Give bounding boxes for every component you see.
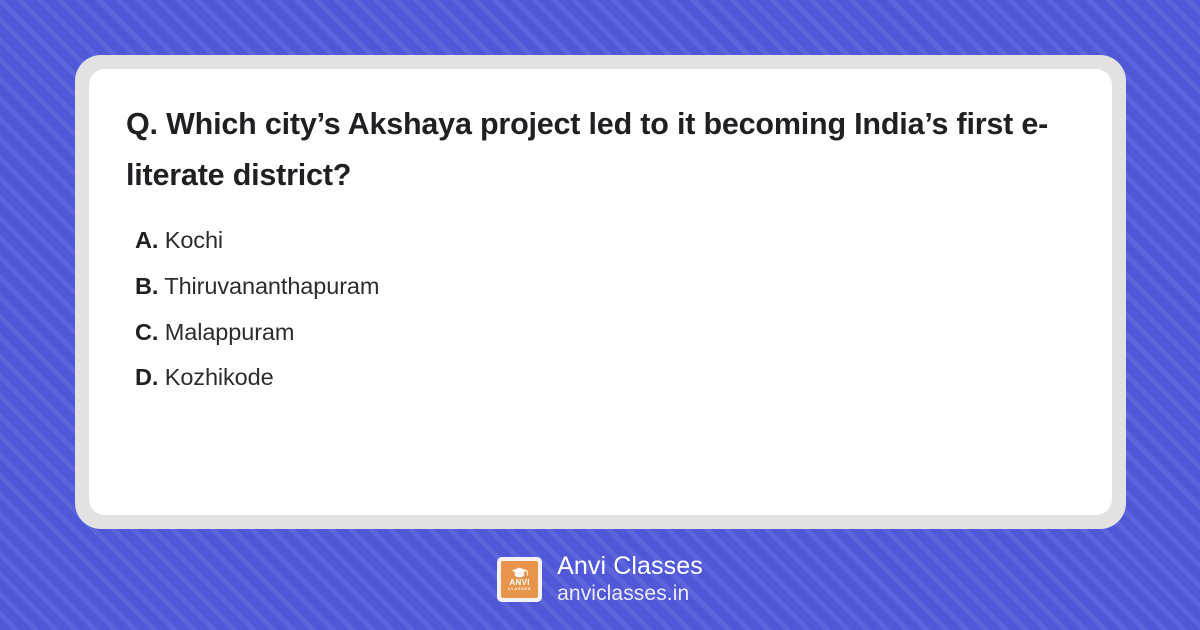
question-card: Q. Which city’s Akshaya project led to i… bbox=[75, 55, 1126, 529]
option-row-d[interactable]: D. Kozhikode bbox=[126, 355, 1075, 401]
brand-logo-sub: CLASSES bbox=[508, 588, 531, 592]
option-row-c[interactable]: C. Malappuram bbox=[126, 310, 1075, 356]
brand-text-block: Anvi Classes anviclasses.in bbox=[557, 552, 703, 606]
brand-title: Anvi Classes bbox=[557, 552, 703, 581]
brand-url[interactable]: anviclasses.in bbox=[557, 581, 703, 606]
option-row-a[interactable]: A. Kochi bbox=[126, 218, 1075, 264]
brand-logo-tile: ANVI CLASSES bbox=[501, 561, 538, 598]
question-card-body: Q. Which city’s Akshaya project led to i… bbox=[89, 69, 1112, 515]
option-label-a: Kochi bbox=[165, 227, 223, 253]
brand-logo-name: ANVI bbox=[509, 579, 529, 587]
footer-branding: ANVI CLASSES Anvi Classes anviclasses.in bbox=[0, 546, 1200, 612]
option-letter-b: B. bbox=[135, 273, 158, 299]
option-row-b[interactable]: B. Thiruvananthapuram bbox=[126, 264, 1075, 310]
question-text: Q. Which city’s Akshaya project led to i… bbox=[126, 99, 1075, 201]
option-letter-d: D. bbox=[135, 364, 158, 390]
option-letter-c: C. bbox=[135, 319, 158, 345]
option-label-d: Kozhikode bbox=[165, 364, 274, 390]
brand-logo: ANVI CLASSES bbox=[497, 557, 542, 602]
option-letter-a: A. bbox=[135, 227, 158, 253]
option-label-c: Malappuram bbox=[165, 319, 295, 345]
option-label-b: Thiruvananthapuram bbox=[164, 273, 379, 299]
options-list: A. Kochi B. Thiruvananthapuram C. Malapp… bbox=[126, 218, 1075, 400]
graduation-cap-icon bbox=[511, 567, 528, 578]
